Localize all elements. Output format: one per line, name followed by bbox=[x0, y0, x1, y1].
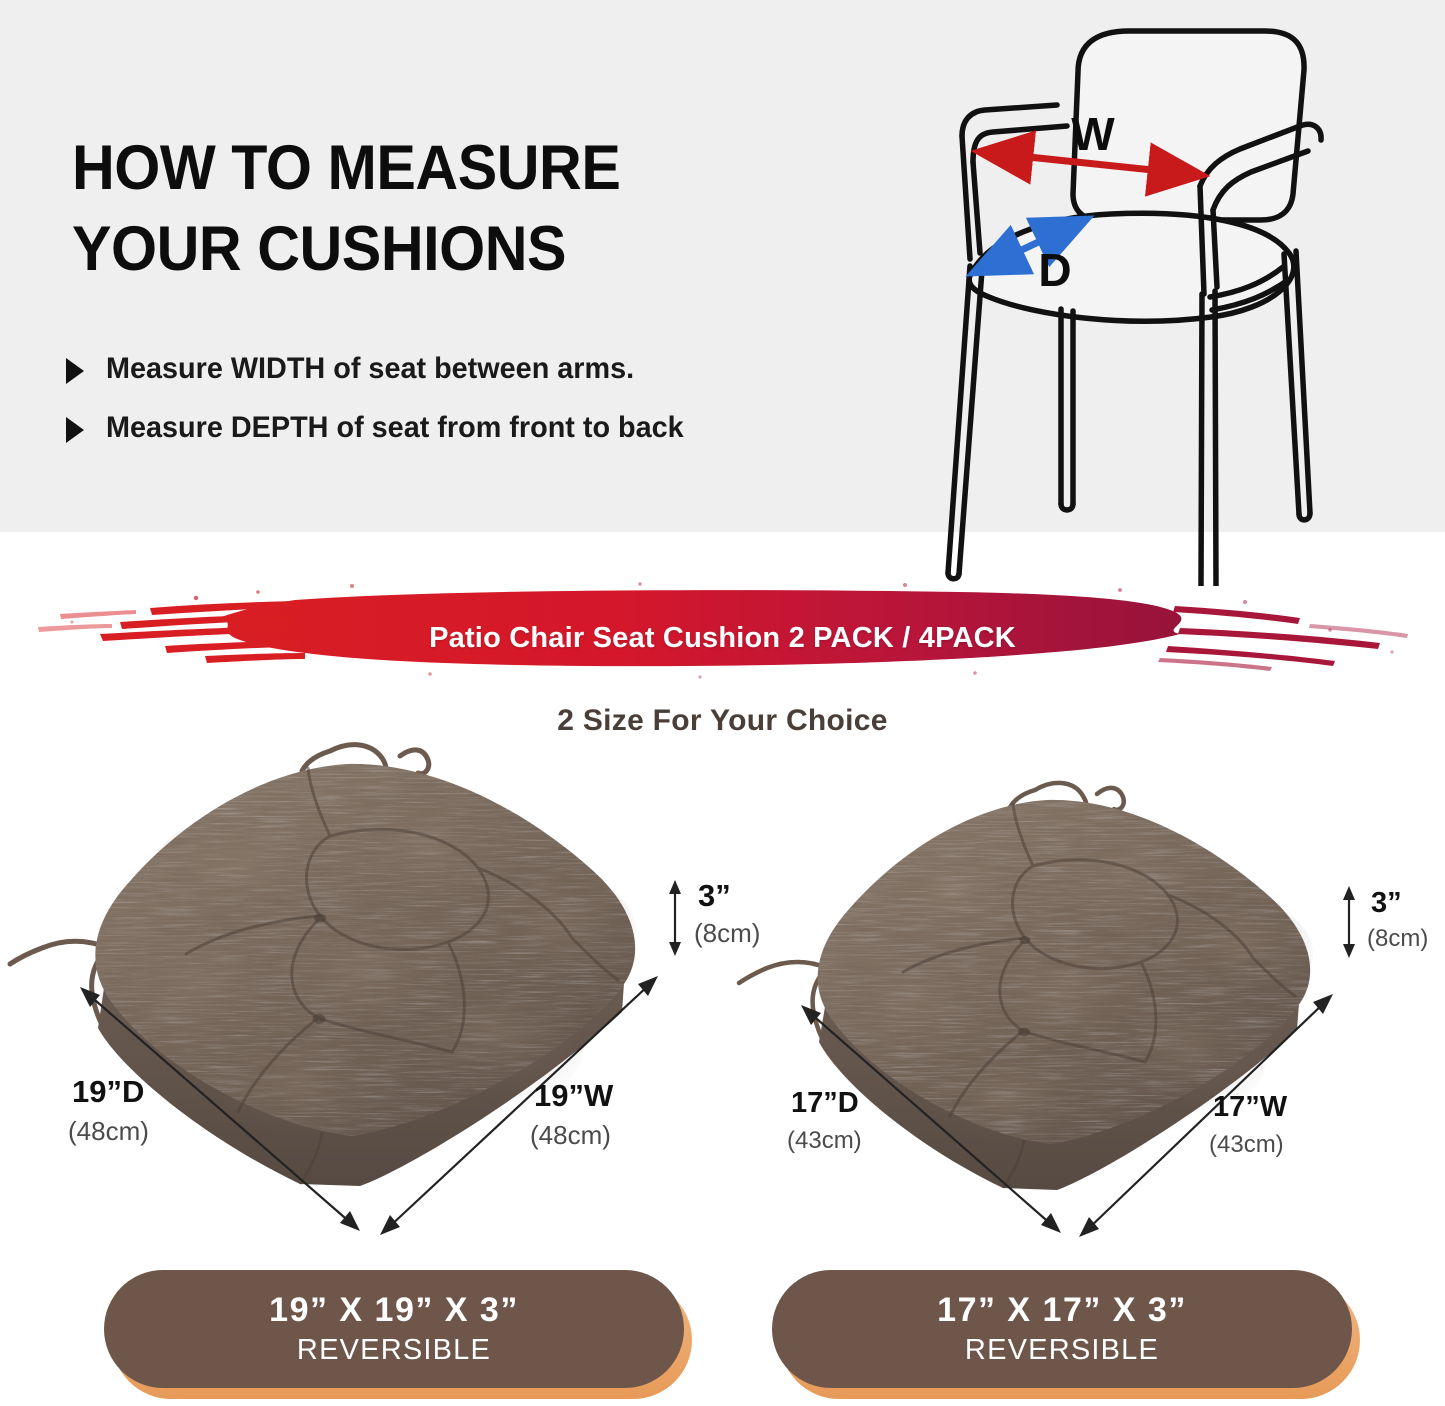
size-badge-19[interactable]: 19” X 19” X 3” REVERSIBLE bbox=[104, 1270, 684, 1388]
width-label: 17”W bbox=[1213, 1091, 1288, 1123]
chair-seat bbox=[969, 213, 1294, 321]
width-label: 19”W bbox=[534, 1078, 614, 1113]
chair-front-left-leg bbox=[948, 266, 970, 573]
width-metric: (48cm) bbox=[530, 1120, 611, 1150]
size-badge-19-reversible: REVERSIBLE bbox=[297, 1335, 491, 1366]
chair-front-right-leg-inner bbox=[1215, 291, 1216, 586]
measure-instructions-list: Measure WIDTH of seat between arms. Meas… bbox=[66, 352, 886, 470]
list-item: Measure DEPTH of seat from front to back bbox=[66, 411, 886, 444]
size-badge-17-reversible: REVERSIBLE bbox=[965, 1335, 1159, 1366]
depth-metric: (48cm) bbox=[68, 1116, 149, 1146]
page-title-line-2: YOUR CUSHIONS bbox=[72, 209, 805, 290]
chair-center-leg-foot bbox=[1061, 504, 1073, 510]
depth-metric: (43cm) bbox=[787, 1127, 862, 1154]
page-title: HOW TO MEASURE YOUR CUSHIONS bbox=[72, 128, 805, 289]
cushion-19-inch: 3” (8cm) 19”D (48cm) 19”W (48cm) bbox=[0, 716, 730, 1256]
height-dimension-arrow bbox=[669, 880, 681, 956]
triangle-bullet-icon bbox=[66, 417, 84, 443]
depth-label: 19”D bbox=[72, 1074, 144, 1109]
height-label: 3” bbox=[698, 878, 731, 913]
depth-label: 17”D bbox=[791, 1087, 859, 1119]
chair-left-arm-post bbox=[962, 136, 970, 259]
width-letter-label: W bbox=[1071, 108, 1115, 160]
depth-letter-label: D bbox=[1038, 244, 1071, 296]
height-label: 3” bbox=[1371, 887, 1402, 919]
size-badge-17[interactable]: 17” X 17” X 3” REVERSIBLE bbox=[772, 1270, 1352, 1388]
instruction-depth: Measure DEPTH of seat from front to back bbox=[106, 411, 684, 444]
list-item: Measure WIDTH of seat between arms. bbox=[66, 352, 886, 385]
height-metric: (8cm) bbox=[1367, 925, 1428, 952]
brush-stroke-shape bbox=[218, 590, 1181, 666]
size-badge-17-dimensions: 17” X 17” X 3” bbox=[937, 1292, 1187, 1329]
chair-front-left-leg-inner bbox=[959, 270, 982, 574]
chair-measurement-diagram: W D bbox=[915, 4, 1415, 586]
brush-right-feather bbox=[1158, 606, 1408, 671]
size-badge-19-dimensions: 19” X 19” X 3” bbox=[269, 1292, 519, 1329]
height-dimension-arrow bbox=[1343, 886, 1355, 958]
instruction-width: Measure WIDTH of seat between arms. bbox=[106, 352, 634, 385]
cushion-17-inch: 3” (8cm) 17”D (43cm) 17”W (43cm) bbox=[735, 750, 1445, 1260]
triangle-bullet-icon bbox=[66, 358, 84, 384]
width-metric: (43cm) bbox=[1209, 1131, 1284, 1158]
promo-banner bbox=[0, 578, 1445, 688]
chair-front-right-leg bbox=[1201, 294, 1202, 586]
chair-back-right-leg-foot bbox=[1299, 513, 1310, 520]
page-title-line-1: HOW TO MEASURE bbox=[72, 128, 805, 209]
chair-left-arm-post-inner bbox=[973, 162, 980, 253]
